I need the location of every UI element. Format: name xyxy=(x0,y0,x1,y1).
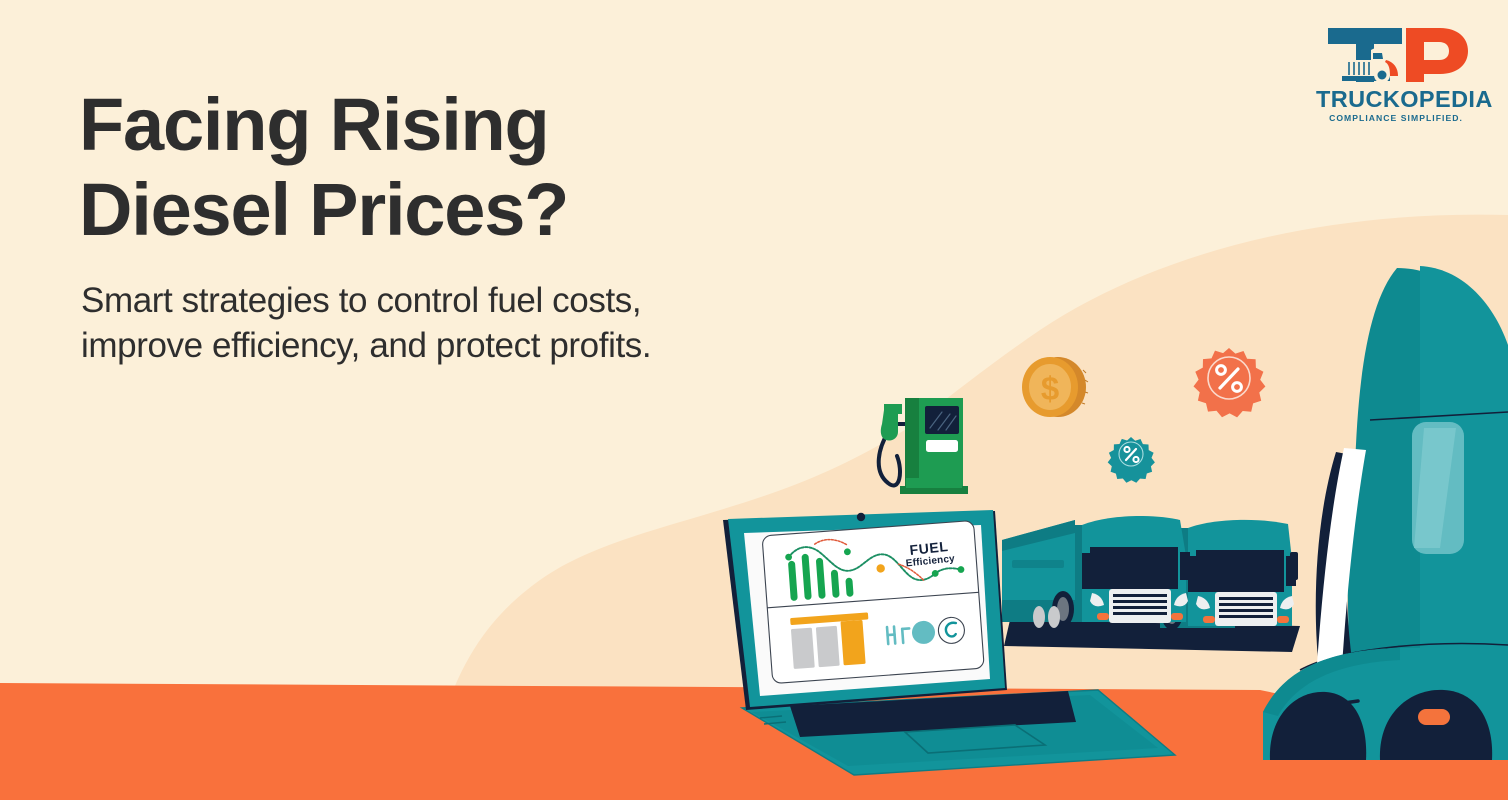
logo-mark-tp-truck-icon xyxy=(1316,24,1476,86)
brand-logo[interactable]: TRUCKOPEDIA COMPLIANCE SIMPLIFIED. xyxy=(1316,24,1476,124)
page-subtitle: Smart strategies to control fuel costs, … xyxy=(81,278,961,368)
logo-wordmark: TRUCKOPEDIA xyxy=(1316,86,1476,112)
page-title: Facing Rising Diesel Prices? xyxy=(79,82,779,252)
headline-line-1: Facing Rising xyxy=(79,82,779,167)
subheadline-line-2: improve efficiency, and protect profits. xyxy=(81,323,961,368)
screen-fuel-label: FUEL Efficiency xyxy=(904,538,956,571)
logo-tagline: COMPLIANCE SIMPLIFIED. xyxy=(1316,112,1476,124)
headline-line-2: Diesel Prices? xyxy=(79,167,779,252)
marketing-banner: $ xyxy=(0,0,1508,800)
subheadline-line-1: Smart strategies to control fuel costs, xyxy=(81,278,961,323)
